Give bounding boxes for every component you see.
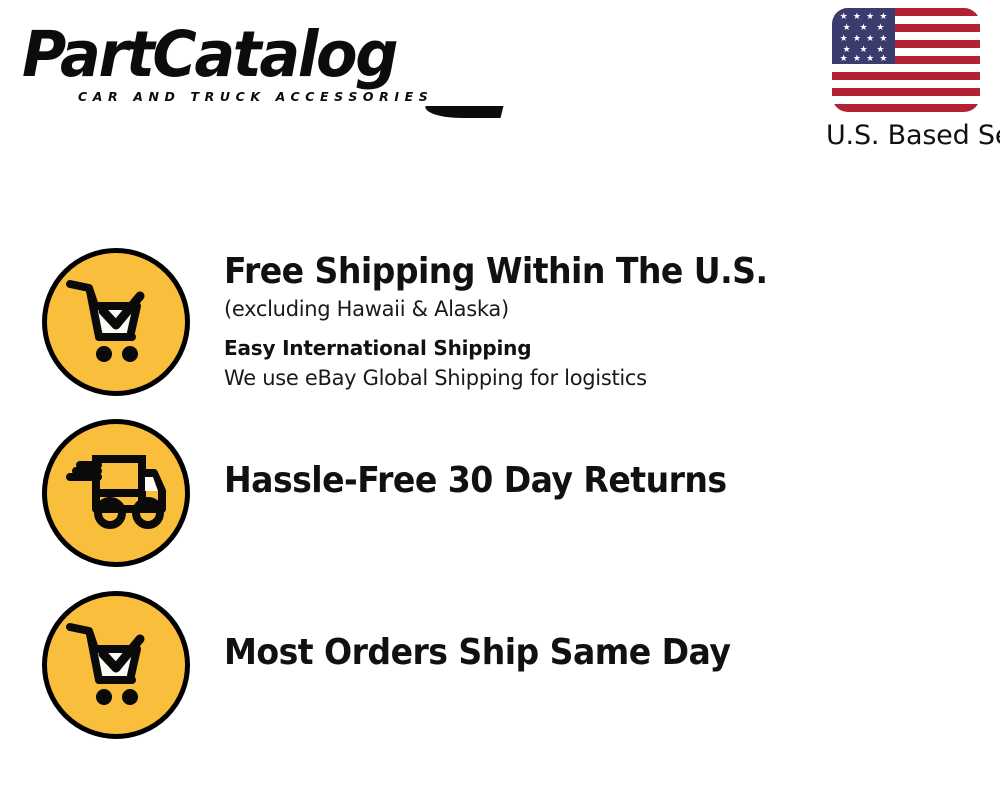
feature-secondary-subtitle: We use eBay Global Shipping for logistic… (224, 363, 815, 393)
page-header: PartCatalog CAR AND TRUCK ACCESSORIES ★★… (0, 0, 1000, 170)
logo-swash-decoration (423, 106, 504, 118)
logo-tagline: CAR AND TRUCK ACCESSORIES (78, 89, 492, 104)
feature-title: Most Orders Ship Same Day (224, 631, 730, 675)
us-flag-icon: ★★★★ ★★★ ★★★★ ★★★ ★★★★ (832, 8, 980, 112)
delivery-truck-icon (42, 419, 190, 567)
feature-title: Hassle-Free 30 Day Returns (224, 459, 727, 503)
feature-text-block: Hassle-Free 30 Day Returns (224, 419, 770, 503)
brand-logo[interactable]: PartCatalog CAR AND TRUCK ACCESSORIES (22, 22, 492, 117)
shopping-cart-check-icon (42, 248, 190, 396)
us-based-seller-badge: ★★★★ ★★★ ★★★★ ★★★ ★★★★ U.S. Based Seller (826, 8, 986, 151)
seller-badge-caption: U.S. Based Seller (826, 120, 986, 151)
feature-secondary-title: Easy International Shipping (224, 333, 815, 363)
feature-text-block: Free Shipping Within The U.S. (excluding… (224, 248, 815, 393)
feature-subtitle: (excluding Hawaii & Alaska) (224, 294, 815, 324)
logo-wordmark: PartCatalog (22, 22, 473, 88)
feature-row: Hassle-Free 30 Day Returns (42, 419, 972, 567)
shopping-cart-check-icon (42, 591, 190, 739)
flag-canton: ★★★★ ★★★ ★★★★ ★★★ ★★★★ (832, 8, 895, 64)
feature-text-block: Most Orders Ship Same Day (224, 591, 774, 675)
feature-row: Most Orders Ship Same Day (42, 591, 972, 739)
feature-title: Free Shipping Within The U.S. (224, 250, 768, 294)
feature-row: Free Shipping Within The U.S. (excluding… (42, 248, 972, 396)
